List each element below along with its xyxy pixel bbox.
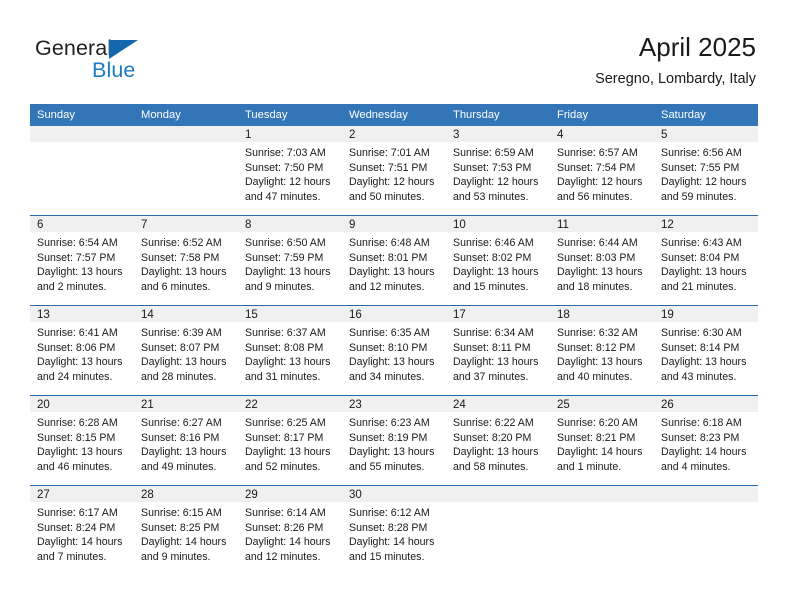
weekday-header-tuesday: Tuesday xyxy=(238,104,342,126)
sunrise-time: Sunrise: 6:12 AM xyxy=(349,506,440,521)
daylight-duration-line2: and 53 minutes. xyxy=(453,190,544,205)
day-details: Sunrise: 6:34 AMSunset: 8:11 PMDaylight:… xyxy=(446,322,550,384)
calendar-cell-empty xyxy=(550,486,654,576)
weekday-header-sunday: Sunday xyxy=(30,104,134,126)
sunset-time: Sunset: 7:53 PM xyxy=(453,161,544,176)
sunset-time: Sunset: 7:57 PM xyxy=(37,251,128,266)
day-details: Sunrise: 6:57 AMSunset: 7:54 PMDaylight:… xyxy=(550,142,654,204)
sunrise-time: Sunrise: 6:30 AM xyxy=(661,326,752,341)
day-number: 12 xyxy=(654,216,758,232)
daylight-duration-line2: and 15 minutes. xyxy=(453,280,544,295)
sunrise-time: Sunrise: 6:20 AM xyxy=(557,416,648,431)
day-details: Sunrise: 6:12 AMSunset: 8:28 PMDaylight:… xyxy=(342,502,446,564)
daylight-duration-line1: Daylight: 14 hours xyxy=(557,445,648,460)
calendar-day-cell[interactable]: 25Sunrise: 6:20 AMSunset: 8:21 PMDayligh… xyxy=(550,396,654,486)
daylight-duration-line1: Daylight: 14 hours xyxy=(349,535,440,550)
daylight-duration-line2: and 58 minutes. xyxy=(453,460,544,475)
daylight-duration-line2: and 18 minutes. xyxy=(557,280,648,295)
day-number: 25 xyxy=(550,396,654,412)
daylight-duration-line2: and 47 minutes. xyxy=(245,190,336,205)
sunset-time: Sunset: 8:15 PM xyxy=(37,431,128,446)
day-details: Sunrise: 6:56 AMSunset: 7:55 PMDaylight:… xyxy=(654,142,758,204)
day-number: 22 xyxy=(238,396,342,412)
calendar-day-cell[interactable]: 13Sunrise: 6:41 AMSunset: 8:06 PMDayligh… xyxy=(30,306,134,396)
daylight-duration-line1: Daylight: 13 hours xyxy=(557,265,648,280)
day-number: 20 xyxy=(30,396,134,412)
sunset-time: Sunset: 8:23 PM xyxy=(661,431,752,446)
daylight-duration-line1: Daylight: 13 hours xyxy=(453,265,544,280)
sunset-time: Sunset: 8:02 PM xyxy=(453,251,544,266)
page-subtitle: Seregno, Lombardy, Italy xyxy=(595,71,756,88)
calendar-day-cell[interactable]: 14Sunrise: 6:39 AMSunset: 8:07 PMDayligh… xyxy=(134,306,238,396)
daylight-duration-line1: Daylight: 12 hours xyxy=(245,175,336,190)
calendar-day-cell[interactable]: 10Sunrise: 6:46 AMSunset: 8:02 PMDayligh… xyxy=(446,216,550,306)
daylight-duration-line1: Daylight: 13 hours xyxy=(141,355,232,370)
day-details: Sunrise: 6:46 AMSunset: 8:02 PMDaylight:… xyxy=(446,232,550,294)
daylight-duration-line1: Daylight: 14 hours xyxy=(245,535,336,550)
day-number: 13 xyxy=(30,306,134,322)
calendar-day-cell[interactable]: 29Sunrise: 6:14 AMSunset: 8:26 PMDayligh… xyxy=(238,486,342,576)
day-details: Sunrise: 6:15 AMSunset: 8:25 PMDaylight:… xyxy=(134,502,238,564)
sunset-time: Sunset: 8:08 PM xyxy=(245,341,336,356)
generalblue-logo[interactable]: General Blue xyxy=(35,36,265,88)
daylight-duration-line1: Daylight: 13 hours xyxy=(349,355,440,370)
sunset-time: Sunset: 7:55 PM xyxy=(661,161,752,176)
day-details: Sunrise: 6:48 AMSunset: 8:01 PMDaylight:… xyxy=(342,232,446,294)
sunrise-time: Sunrise: 6:27 AM xyxy=(141,416,232,431)
weekday-header-friday: Friday xyxy=(550,104,654,126)
day-number: 10 xyxy=(446,216,550,232)
calendar-day-cell[interactable]: 6Sunrise: 6:54 AMSunset: 7:57 PMDaylight… xyxy=(30,216,134,306)
sunrise-time: Sunrise: 6:41 AM xyxy=(37,326,128,341)
calendar-table: Sunday Monday Tuesday Wednesday Thursday… xyxy=(30,104,758,575)
day-number: 16 xyxy=(342,306,446,322)
sunrise-time: Sunrise: 6:59 AM xyxy=(453,146,544,161)
day-details: Sunrise: 7:01 AMSunset: 7:51 PMDaylight:… xyxy=(342,142,446,204)
daylight-duration-line2: and 21 minutes. xyxy=(661,280,752,295)
day-number: 1 xyxy=(238,126,342,142)
calendar-day-cell[interactable]: 5Sunrise: 6:56 AMSunset: 7:55 PMDaylight… xyxy=(654,126,758,216)
daylight-duration-line2: and 28 minutes. xyxy=(141,370,232,385)
calendar-day-cell[interactable]: 11Sunrise: 6:44 AMSunset: 8:03 PMDayligh… xyxy=(550,216,654,306)
day-details: Sunrise: 6:41 AMSunset: 8:06 PMDaylight:… xyxy=(30,322,134,384)
daylight-duration-line1: Daylight: 13 hours xyxy=(141,265,232,280)
calendar-day-cell[interactable]: 27Sunrise: 6:17 AMSunset: 8:24 PMDayligh… xyxy=(30,486,134,576)
day-number: 9 xyxy=(342,216,446,232)
sunrise-time: Sunrise: 6:34 AM xyxy=(453,326,544,341)
daylight-duration-line1: Daylight: 13 hours xyxy=(349,445,440,460)
calendar-day-cell[interactable]: 7Sunrise: 6:52 AMSunset: 7:58 PMDaylight… xyxy=(134,216,238,306)
daylight-duration-line2: and 56 minutes. xyxy=(557,190,648,205)
calendar-day-cell[interactable]: 23Sunrise: 6:23 AMSunset: 8:19 PMDayligh… xyxy=(342,396,446,486)
sunset-time: Sunset: 8:16 PM xyxy=(141,431,232,446)
daylight-duration-line2: and 9 minutes. xyxy=(245,280,336,295)
weekday-header-monday: Monday xyxy=(134,104,238,126)
sunrise-time: Sunrise: 6:15 AM xyxy=(141,506,232,521)
calendar-day-cell[interactable]: 1Sunrise: 7:03 AMSunset: 7:50 PMDaylight… xyxy=(238,126,342,216)
day-details: Sunrise: 6:14 AMSunset: 8:26 PMDaylight:… xyxy=(238,502,342,564)
calendar-day-cell[interactable]: 16Sunrise: 6:35 AMSunset: 8:10 PMDayligh… xyxy=(342,306,446,396)
daylight-duration-line2: and 24 minutes. xyxy=(37,370,128,385)
day-number: 23 xyxy=(342,396,446,412)
sunrise-time: Sunrise: 6:46 AM xyxy=(453,236,544,251)
sunrise-time: Sunrise: 6:44 AM xyxy=(557,236,648,251)
day-number: 29 xyxy=(238,486,342,502)
daylight-duration-line1: Daylight: 12 hours xyxy=(557,175,648,190)
sunrise-time: Sunrise: 6:18 AM xyxy=(661,416,752,431)
sunrise-time: Sunrise: 6:35 AM xyxy=(349,326,440,341)
day-details: Sunrise: 6:27 AMSunset: 8:16 PMDaylight:… xyxy=(134,412,238,474)
calendar-day-cell[interactable]: 2Sunrise: 7:01 AMSunset: 7:51 PMDaylight… xyxy=(342,126,446,216)
sunrise-time: Sunrise: 6:32 AM xyxy=(557,326,648,341)
weekday-header-saturday: Saturday xyxy=(654,104,758,126)
daylight-duration-line2: and 49 minutes. xyxy=(141,460,232,475)
sunset-time: Sunset: 8:06 PM xyxy=(37,341,128,356)
daylight-duration-line2: and 31 minutes. xyxy=(245,370,336,385)
sunrise-time: Sunrise: 6:14 AM xyxy=(245,506,336,521)
day-details: Sunrise: 6:37 AMSunset: 8:08 PMDaylight:… xyxy=(238,322,342,384)
day-number: 5 xyxy=(654,126,758,142)
daylight-duration-line2: and 12 minutes. xyxy=(349,280,440,295)
sunrise-time: Sunrise: 7:01 AM xyxy=(349,146,440,161)
day-details: Sunrise: 6:25 AMSunset: 8:17 PMDaylight:… xyxy=(238,412,342,474)
daylight-duration-line1: Daylight: 13 hours xyxy=(245,265,336,280)
calendar-day-cell[interactable]: 26Sunrise: 6:18 AMSunset: 8:23 PMDayligh… xyxy=(654,396,758,486)
day-details: Sunrise: 6:28 AMSunset: 8:15 PMDaylight:… xyxy=(30,412,134,474)
day-details: Sunrise: 6:50 AMSunset: 7:59 PMDaylight:… xyxy=(238,232,342,294)
daylight-duration-line1: Daylight: 13 hours xyxy=(245,445,336,460)
day-details: Sunrise: 6:32 AMSunset: 8:12 PMDaylight:… xyxy=(550,322,654,384)
day-number: 27 xyxy=(30,486,134,502)
day-details: Sunrise: 6:18 AMSunset: 8:23 PMDaylight:… xyxy=(654,412,758,474)
calendar-day-cell[interactable]: 8Sunrise: 6:50 AMSunset: 7:59 PMDaylight… xyxy=(238,216,342,306)
day-number xyxy=(550,486,654,502)
daylight-duration-line1: Daylight: 12 hours xyxy=(349,175,440,190)
sunset-time: Sunset: 8:11 PM xyxy=(453,341,544,356)
day-number: 18 xyxy=(550,306,654,322)
calendar-day-cell[interactable]: 3Sunrise: 6:59 AMSunset: 7:53 PMDaylight… xyxy=(446,126,550,216)
sunset-time: Sunset: 8:28 PM xyxy=(349,521,440,536)
sunrise-time: Sunrise: 6:48 AM xyxy=(349,236,440,251)
sunrise-time: Sunrise: 6:52 AM xyxy=(141,236,232,251)
calendar-day-cell[interactable]: 18Sunrise: 6:32 AMSunset: 8:12 PMDayligh… xyxy=(550,306,654,396)
daylight-duration-line1: Daylight: 13 hours xyxy=(349,265,440,280)
day-number: 24 xyxy=(446,396,550,412)
daylight-duration-line1: Daylight: 13 hours xyxy=(37,265,128,280)
calendar-day-cell[interactable]: 28Sunrise: 6:15 AMSunset: 8:25 PMDayligh… xyxy=(134,486,238,576)
logo-triangle-icon xyxy=(109,40,138,59)
daylight-duration-line2: and 55 minutes. xyxy=(349,460,440,475)
daylight-duration-line1: Daylight: 13 hours xyxy=(37,355,128,370)
daylight-duration-line1: Daylight: 14 hours xyxy=(661,445,752,460)
daylight-duration-line1: Daylight: 13 hours xyxy=(453,355,544,370)
sunrise-time: Sunrise: 6:37 AM xyxy=(245,326,336,341)
day-number xyxy=(446,486,550,502)
calendar-day-cell[interactable]: 24Sunrise: 6:22 AMSunset: 8:20 PMDayligh… xyxy=(446,396,550,486)
daylight-duration-line1: Daylight: 14 hours xyxy=(141,535,232,550)
daylight-duration-line1: Daylight: 13 hours xyxy=(245,355,336,370)
calendar-week-row: 1Sunrise: 7:03 AMSunset: 7:50 PMDaylight… xyxy=(30,126,758,216)
day-details: Sunrise: 6:43 AMSunset: 8:04 PMDaylight:… xyxy=(654,232,758,294)
calendar-body: 1Sunrise: 7:03 AMSunset: 7:50 PMDaylight… xyxy=(30,126,758,575)
daylight-duration-line2: and 2 minutes. xyxy=(37,280,128,295)
daylight-duration-line2: and 43 minutes. xyxy=(661,370,752,385)
calendar-day-cell[interactable]: 20Sunrise: 6:28 AMSunset: 8:15 PMDayligh… xyxy=(30,396,134,486)
daylight-duration-line2: and 50 minutes. xyxy=(349,190,440,205)
sunset-time: Sunset: 8:19 PM xyxy=(349,431,440,446)
daylight-duration-line1: Daylight: 13 hours xyxy=(661,265,752,280)
sunrise-time: Sunrise: 6:22 AM xyxy=(453,416,544,431)
sunset-time: Sunset: 7:50 PM xyxy=(245,161,336,176)
day-number: 6 xyxy=(30,216,134,232)
sunset-time: Sunset: 8:21 PM xyxy=(557,431,648,446)
sunset-time: Sunset: 8:26 PM xyxy=(245,521,336,536)
sunrise-time: Sunrise: 6:43 AM xyxy=(661,236,752,251)
day-details: Sunrise: 6:52 AMSunset: 7:58 PMDaylight:… xyxy=(134,232,238,294)
sunset-time: Sunset: 7:58 PM xyxy=(141,251,232,266)
daylight-duration-line2: and 37 minutes. xyxy=(453,370,544,385)
daylight-duration-line1: Daylight: 13 hours xyxy=(453,445,544,460)
page-title: April 2025 xyxy=(595,32,756,62)
calendar-day-cell[interactable]: 4Sunrise: 6:57 AMSunset: 7:54 PMDaylight… xyxy=(550,126,654,216)
sunrise-time: Sunrise: 6:39 AM xyxy=(141,326,232,341)
daylight-duration-line1: Daylight: 14 hours xyxy=(37,535,128,550)
day-number xyxy=(134,126,238,142)
sunset-time: Sunset: 8:04 PM xyxy=(661,251,752,266)
day-number: 15 xyxy=(238,306,342,322)
daylight-duration-line2: and 12 minutes. xyxy=(245,550,336,565)
day-details: Sunrise: 6:23 AMSunset: 8:19 PMDaylight:… xyxy=(342,412,446,474)
daylight-duration-line2: and 40 minutes. xyxy=(557,370,648,385)
daylight-duration-line2: and 46 minutes. xyxy=(37,460,128,475)
day-details: Sunrise: 6:17 AMSunset: 8:24 PMDaylight:… xyxy=(30,502,134,564)
day-details: Sunrise: 6:44 AMSunset: 8:03 PMDaylight:… xyxy=(550,232,654,294)
calendar-header-row: Sunday Monday Tuesday Wednesday Thursday… xyxy=(30,104,758,126)
title-block: April 2025 Seregno, Lombardy, Italy xyxy=(595,32,756,88)
day-number: 4 xyxy=(550,126,654,142)
sunset-time: Sunset: 8:03 PM xyxy=(557,251,648,266)
day-details: Sunrise: 6:22 AMSunset: 8:20 PMDaylight:… xyxy=(446,412,550,474)
daylight-duration-line2: and 15 minutes. xyxy=(349,550,440,565)
sunset-time: Sunset: 7:54 PM xyxy=(557,161,648,176)
calendar-week-row: 20Sunrise: 6:28 AMSunset: 8:15 PMDayligh… xyxy=(30,396,758,486)
sunrise-time: Sunrise: 6:23 AM xyxy=(349,416,440,431)
daylight-duration-line1: Daylight: 12 hours xyxy=(661,175,752,190)
daylight-duration-line2: and 9 minutes. xyxy=(141,550,232,565)
sunset-time: Sunset: 8:14 PM xyxy=(661,341,752,356)
calendar-day-cell[interactable]: 12Sunrise: 6:43 AMSunset: 8:04 PMDayligh… xyxy=(654,216,758,306)
sunset-time: Sunset: 8:24 PM xyxy=(37,521,128,536)
calendar-week-row: 6Sunrise: 6:54 AMSunset: 7:57 PMDaylight… xyxy=(30,216,758,306)
daylight-duration-line2: and 59 minutes. xyxy=(661,190,752,205)
sunrise-time: Sunrise: 6:25 AM xyxy=(245,416,336,431)
day-number: 8 xyxy=(238,216,342,232)
day-number: 26 xyxy=(654,396,758,412)
sunrise-time: Sunrise: 6:54 AM xyxy=(37,236,128,251)
day-number: 14 xyxy=(134,306,238,322)
day-number xyxy=(654,486,758,502)
calendar-cell-empty xyxy=(446,486,550,576)
day-number: 17 xyxy=(446,306,550,322)
calendar-week-row: 27Sunrise: 6:17 AMSunset: 8:24 PMDayligh… xyxy=(30,486,758,576)
logo-text-blue: Blue xyxy=(92,58,135,83)
day-number: 21 xyxy=(134,396,238,412)
sunrise-time: Sunrise: 6:28 AM xyxy=(37,416,128,431)
day-number: 28 xyxy=(134,486,238,502)
sunset-time: Sunset: 7:59 PM xyxy=(245,251,336,266)
daylight-duration-line1: Daylight: 12 hours xyxy=(453,175,544,190)
page-header: General Blue April 2025 Seregno, Lombard… xyxy=(0,0,792,100)
day-number: 3 xyxy=(446,126,550,142)
day-details: Sunrise: 6:35 AMSunset: 8:10 PMDaylight:… xyxy=(342,322,446,384)
day-number: 2 xyxy=(342,126,446,142)
sunrise-time: Sunrise: 6:56 AM xyxy=(661,146,752,161)
day-details: Sunrise: 6:59 AMSunset: 7:53 PMDaylight:… xyxy=(446,142,550,204)
calendar-day-cell[interactable]: 15Sunrise: 6:37 AMSunset: 8:08 PMDayligh… xyxy=(238,306,342,396)
sunset-time: Sunset: 8:01 PM xyxy=(349,251,440,266)
day-number: 30 xyxy=(342,486,446,502)
day-details: Sunrise: 6:39 AMSunset: 8:07 PMDaylight:… xyxy=(134,322,238,384)
calendar-page: General Blue April 2025 Seregno, Lombard… xyxy=(0,0,792,612)
day-number: 7 xyxy=(134,216,238,232)
sunrise-time: Sunrise: 6:50 AM xyxy=(245,236,336,251)
day-details: Sunrise: 6:30 AMSunset: 8:14 PMDaylight:… xyxy=(654,322,758,384)
sunset-time: Sunset: 8:20 PM xyxy=(453,431,544,446)
daylight-duration-line2: and 52 minutes. xyxy=(245,460,336,475)
calendar-cell-empty xyxy=(654,486,758,576)
sunset-time: Sunset: 8:25 PM xyxy=(141,521,232,536)
day-details: Sunrise: 7:03 AMSunset: 7:50 PMDaylight:… xyxy=(238,142,342,204)
daylight-duration-line2: and 6 minutes. xyxy=(141,280,232,295)
daylight-duration-line2: and 4 minutes. xyxy=(661,460,752,475)
calendar-cell-empty xyxy=(134,126,238,216)
calendar-day-cell[interactable]: 9Sunrise: 6:48 AMSunset: 8:01 PMDaylight… xyxy=(342,216,446,306)
calendar-day-cell[interactable]: 30Sunrise: 6:12 AMSunset: 8:28 PMDayligh… xyxy=(342,486,446,576)
daylight-duration-line2: and 34 minutes. xyxy=(349,370,440,385)
sunset-time: Sunset: 7:51 PM xyxy=(349,161,440,176)
calendar-cell-empty xyxy=(30,126,134,216)
calendar-day-cell[interactable]: 21Sunrise: 6:27 AMSunset: 8:16 PMDayligh… xyxy=(134,396,238,486)
day-number: 11 xyxy=(550,216,654,232)
sunrise-time: Sunrise: 6:57 AM xyxy=(557,146,648,161)
calendar-day-cell[interactable]: 22Sunrise: 6:25 AMSunset: 8:17 PMDayligh… xyxy=(238,396,342,486)
day-details: Sunrise: 6:54 AMSunset: 7:57 PMDaylight:… xyxy=(30,232,134,294)
sunrise-time: Sunrise: 6:17 AM xyxy=(37,506,128,521)
sunrise-time: Sunrise: 7:03 AM xyxy=(245,146,336,161)
daylight-duration-line1: Daylight: 13 hours xyxy=(141,445,232,460)
day-details: Sunrise: 6:20 AMSunset: 8:21 PMDaylight:… xyxy=(550,412,654,474)
daylight-duration-line1: Daylight: 13 hours xyxy=(37,445,128,460)
sunset-time: Sunset: 8:07 PM xyxy=(141,341,232,356)
sunset-time: Sunset: 8:12 PM xyxy=(557,341,648,356)
daylight-duration-line2: and 7 minutes. xyxy=(37,550,128,565)
sunset-time: Sunset: 8:10 PM xyxy=(349,341,440,356)
calendar-day-cell[interactable]: 19Sunrise: 6:30 AMSunset: 8:14 PMDayligh… xyxy=(654,306,758,396)
weekday-header-thursday: Thursday xyxy=(446,104,550,126)
sunset-time: Sunset: 8:17 PM xyxy=(245,431,336,446)
weekday-header-wednesday: Wednesday xyxy=(342,104,446,126)
daylight-duration-line2: and 1 minute. xyxy=(557,460,648,475)
calendar-day-cell[interactable]: 17Sunrise: 6:34 AMSunset: 8:11 PMDayligh… xyxy=(446,306,550,396)
day-number xyxy=(30,126,134,142)
daylight-duration-line1: Daylight: 13 hours xyxy=(557,355,648,370)
day-number: 19 xyxy=(654,306,758,322)
daylight-duration-line1: Daylight: 13 hours xyxy=(661,355,752,370)
calendar-week-row: 13Sunrise: 6:41 AMSunset: 8:06 PMDayligh… xyxy=(30,306,758,396)
